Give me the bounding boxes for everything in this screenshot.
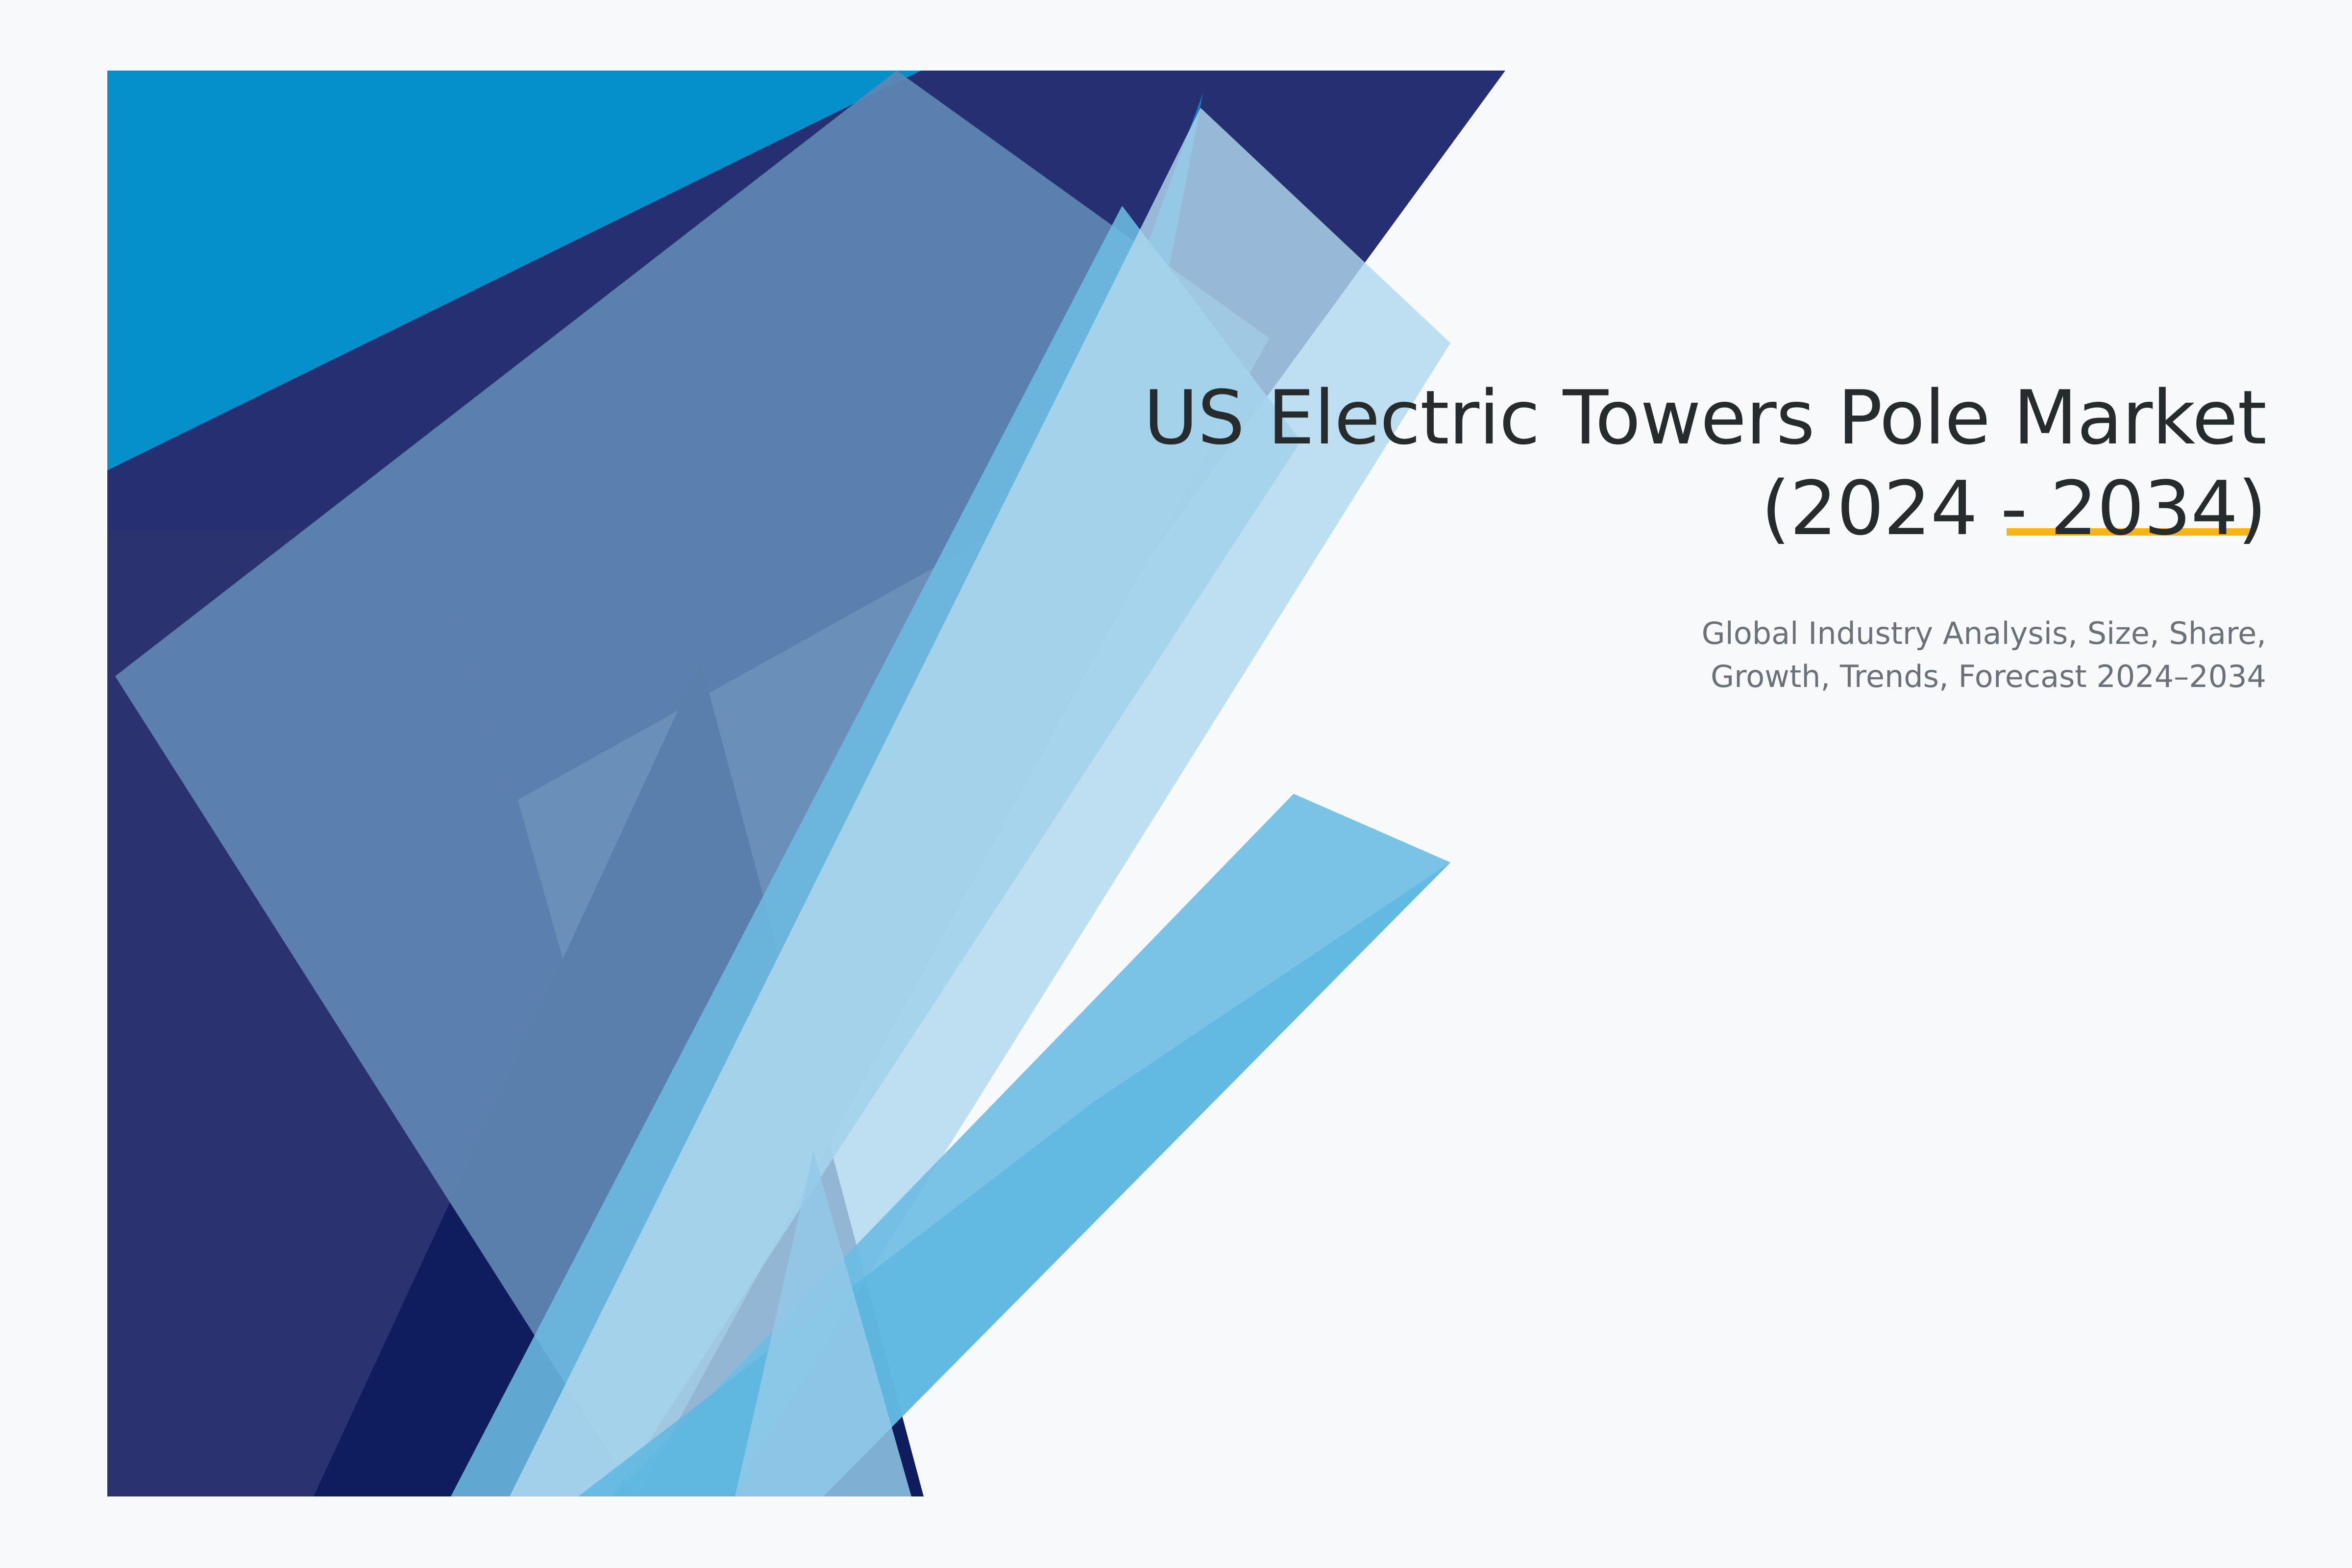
cover-slide: US Electric Towers Pole Market (2024 - 2… (0, 0, 2352, 1568)
subtitle-line-1: Global Industry Analysis, Size, Share, (1702, 615, 2266, 651)
cover-text-block: US Electric Towers Pole Market (2024 - 2… (992, 372, 2266, 698)
abstract-geometric-artwork (0, 0, 2352, 1568)
page-title: US Electric Towers Pole Market (2024 - 2… (992, 372, 2266, 554)
title-line-1: US Electric Towers Pole Market (1144, 374, 2266, 461)
title-line-2: (2024 - 2034) (1761, 465, 2266, 552)
subtitle-line-2: Growth, Trends, Forecast 2024–2034 (1711, 659, 2266, 694)
page-subtitle: Global Industry Analysis, Size, Share, G… (992, 554, 2266, 698)
